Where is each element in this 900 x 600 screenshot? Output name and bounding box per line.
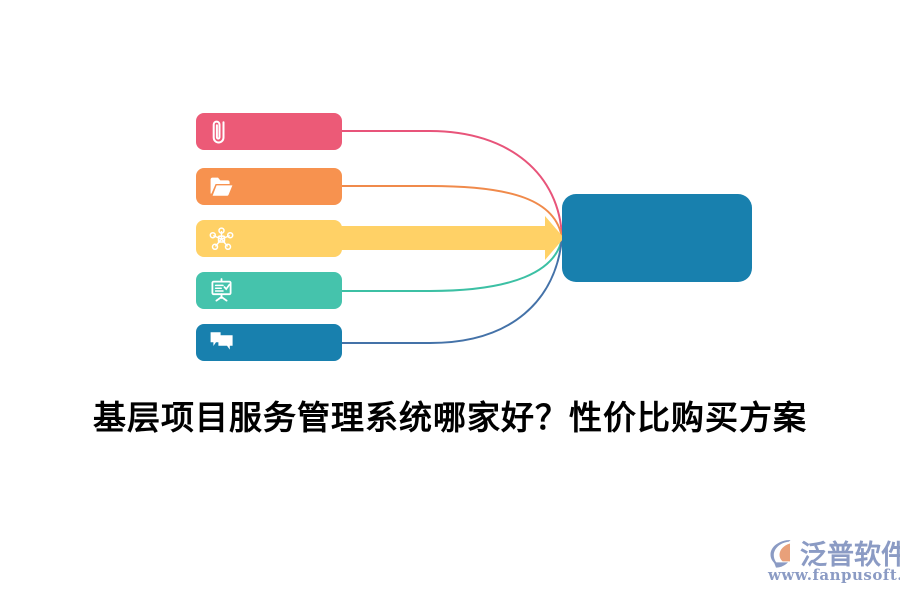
brand-watermark: 泛普软件 www.fanpusoft.com [766,533,896,593]
page-title: 基层项目服务管理系统哪家好？性价比购买方案 [0,391,900,439]
destination-box[interactable] [562,194,752,282]
source-item-4[interactable] [196,272,342,309]
logo-accent-shape [780,544,791,562]
convergence-flow-diagram [0,0,900,600]
highlight-arrow [330,216,564,260]
source-bar-5[interactable] [196,324,342,361]
connector-1-paperclip [342,131,562,238]
fanpu-logo-icon [766,536,800,570]
source-item-3[interactable] [196,220,342,257]
source-item-2[interactable] [196,168,342,205]
screenshot-canvas: 基层项目服务管理系统哪家好？性价比购买方案 泛普软件 www.fanpusoft… [0,0,900,600]
brand-url: www.fanpusoft.com [768,566,900,584]
source-item-1[interactable] [196,113,342,150]
source-item-5[interactable] [196,324,342,361]
